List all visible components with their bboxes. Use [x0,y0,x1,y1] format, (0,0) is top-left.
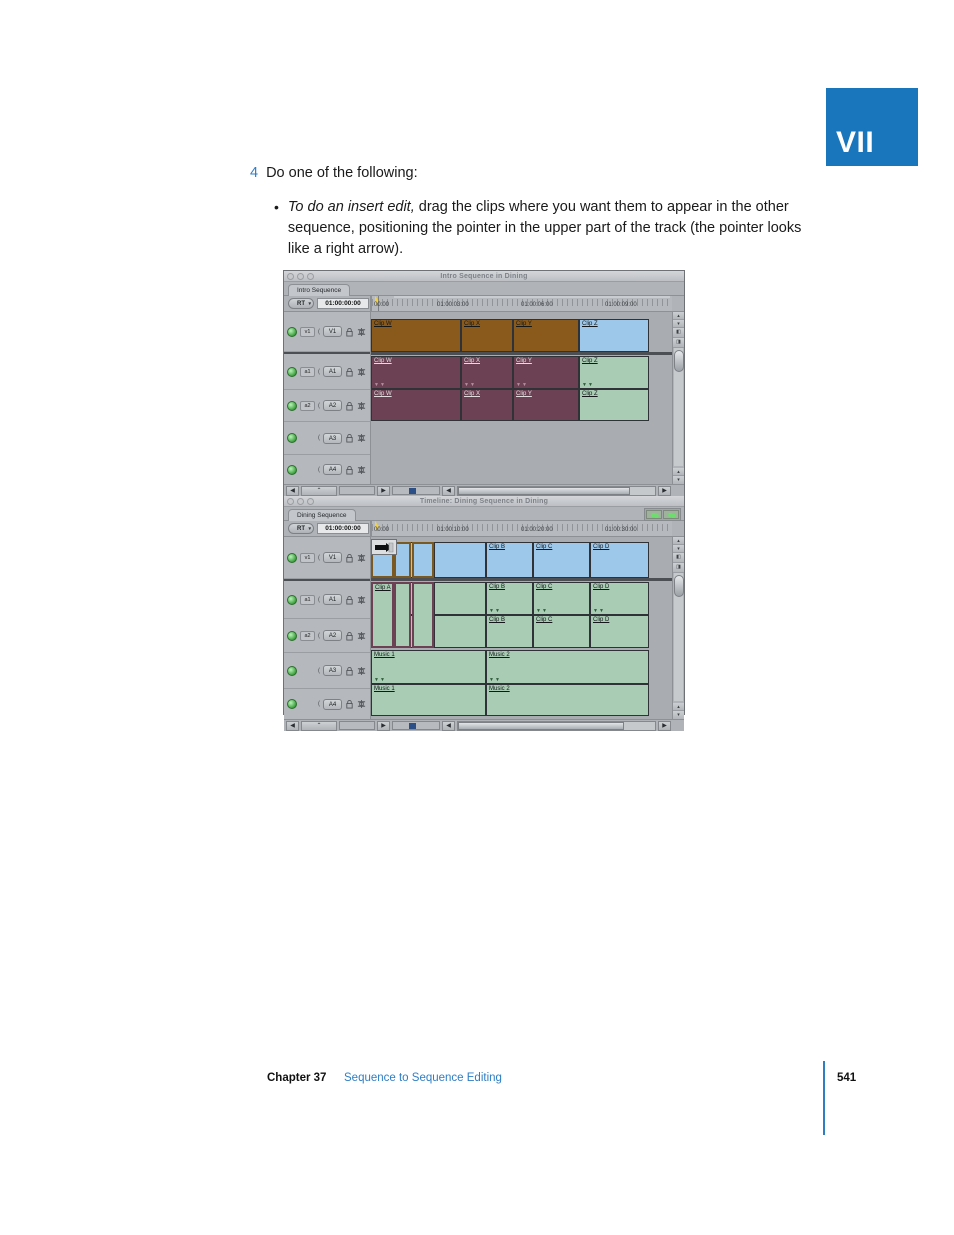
track-header-v1[interactable]: v1 ( V1 [284,537,370,579]
dining-window-titlebar[interactable]: Timeline: Dining Sequence in Dining [284,496,684,507]
source-v1-label[interactable]: v1 [300,553,315,563]
timeline-clip[interactable] [434,582,486,615]
intro-window-title: Intro Sequence in Dining [284,271,684,282]
scroll-down-arrow-icon-2[interactable]: ▾ [673,711,684,719]
scroll-up-arrow-icon-2[interactable]: ▴ [673,468,684,476]
patch-connector-icon: ( [318,403,320,409]
audio-visibility-icon[interactable] [287,433,297,443]
visibility-icon[interactable] [287,327,297,337]
dining-tabbar: Dining Sequence [284,507,684,521]
intro-horizontal-scrollbar[interactable] [457,486,656,496]
footer-divider [823,1061,825,1135]
auto-select-icon[interactable] [357,465,366,475]
intro-ruler-row: RT 01:00:00:00 00:00 01:00:03:00 01:00:0… [284,296,684,312]
step-number: 4 [250,163,258,183]
intro-timeline-lane[interactable]: Clip W Clip X Clip Y Clip Z Clip W▼▼ Cli… [371,312,672,484]
source-a2-label[interactable]: a2 [300,401,315,411]
dining-track-headers: v1 ( V1 a1 ( A1 a2 ( [284,537,371,719]
timeline-clip[interactable] [434,615,486,648]
timeline-clip[interactable]: Clip X▼▼ [461,356,513,389]
hscroll-right-arrow-icon[interactable]: ▶ [658,721,671,731]
ruler-corner-filler [672,521,684,536]
patch-connector-icon: ( [318,633,320,639]
source-a3-label[interactable] [300,433,315,443]
clip-label: Clip C [536,544,552,550]
timeline-clip[interactable]: Clip B▼▼ [486,582,533,615]
intro-vertical-scrollbar[interactable]: ▴ ▾ ◧ ◨ ▴ ▾ [672,312,684,484]
tab-dining-sequence[interactable]: Dining Sequence [288,509,356,521]
scroll-down-arrow-icon[interactable]: ▾ [673,545,684,553]
timeline-clip[interactable]: Clip B [486,542,533,578]
dest-A1-label[interactable]: A1 [323,366,342,377]
auto-select-icon[interactable] [357,631,366,641]
dest-V1-label[interactable]: V1 [323,326,342,337]
scroll-down-arrow-icon-2[interactable]: ▾ [673,476,684,484]
auto-select-icon[interactable] [357,327,366,337]
timeline-clip[interactable]: Music 1 [371,684,486,716]
timeline-clip[interactable] [434,542,486,578]
insert-edit-pointer-icon [371,539,397,555]
clip-label: Music 2 [489,686,510,692]
audio-visibility-icon[interactable] [287,631,297,641]
patch-connector-icon: ( [318,701,320,707]
clip-label: Clip W [374,321,392,327]
clip-label: Music 1 [374,686,395,692]
track-header-a4[interactable]: ( A4 [284,455,370,484]
clip-keyframes-icon[interactable]: ⌃ [301,721,337,731]
patch-connector-icon: ( [318,555,320,561]
zoom-slider[interactable] [392,486,440,495]
drag-ghost-clip[interactable]: Clip A [371,582,394,648]
clip-label: Clip D [593,584,609,590]
timeline-toggle-buttons[interactable] [644,508,681,521]
part-tab-label: VII [836,126,874,160]
patch-connector-icon: ( [318,435,320,441]
audio-visibility-icon[interactable] [287,465,297,475]
timeline-clip[interactable]: Clip W [371,319,461,352]
dining-vertical-scrollbar[interactable]: ▴ ▾ ◧ ◨ ▴ ▾ [672,537,684,719]
track-header-a2[interactable]: a2 ( A2 [284,619,370,653]
source-v1-label[interactable]: v1 [300,327,315,337]
audio-waveform-marks: ▼▼ [582,382,594,388]
source-a1-label[interactable]: a1 [300,367,315,377]
lock-icon[interactable] [345,699,354,709]
ruler-label-3: 01:00:09:00 [605,302,637,308]
hscroll-left-arrow-icon[interactable]: ◀ [442,721,455,731]
patch-connector-icon: ( [318,597,320,603]
clip-label: Clip B [489,544,505,550]
auto-select-icon[interactable] [357,367,366,377]
intro-tabbar: Intro Sequence [284,282,684,296]
track-header-v1[interactable]: v1 ( V1 [284,312,370,352]
audio-visibility-icon[interactable] [287,666,297,676]
ruler-label-3: 01:00:30:00 [605,527,637,533]
timeline-clip[interactable]: Clip Z [579,389,649,421]
dining-window-title: Timeline: Dining Sequence in Dining [284,496,684,507]
ruler-corner-filler [672,296,684,311]
timeline-options-icon[interactable]: ▶ [377,721,390,731]
footer-chapter: Chapter 37 [267,1072,326,1084]
track-divider [371,352,672,355]
track-height-toggle-icon[interactable]: ◧ [673,328,684,338]
auto-select-icon[interactable] [357,666,366,676]
track-layout-toggle-icon[interactable]: ◨ [673,563,684,573]
timeline-clip[interactable]: Clip D▼▼ [590,582,649,615]
track-header-a2[interactable]: a2 ( A2 [284,390,370,422]
ruler-label-1: 01:00:03:00 [437,302,469,308]
intro-bottom-toolbar: ◀ ⌃ ▶ ◀ ▶ [284,484,684,496]
track-height-control[interactable] [339,721,375,730]
clip-label: Clip X [464,358,480,364]
scroll-up-arrow-icon[interactable]: ▴ [673,312,684,320]
dest-A4-label[interactable]: A4 [323,699,342,710]
clip-label: Clip D [593,617,609,623]
hscroll-left-arrow-icon[interactable]: ◀ [442,486,455,496]
auto-select-icon[interactable] [357,699,366,709]
audio-visibility-icon[interactable] [287,595,297,605]
lock-icon[interactable] [345,433,354,443]
fcp-screenshot: Intro Sequence in Dining Intro Sequence … [283,270,685,715]
bullet-marker: • [274,197,279,218]
current-timecode-field[interactable]: 01:00:00:00 [317,523,369,534]
dest-A2-label[interactable]: A2 [323,400,342,411]
audio-visibility-icon[interactable] [287,401,297,411]
ruler-label-2: 01:00:20:00 [521,527,553,533]
dining-bottom-toolbar: ◀ ⌃ ▶ ◀ ▶ [284,719,684,731]
ruler-label-1: 01:00:10:00 [437,527,469,533]
clip-label: Music 2 [489,652,510,658]
clip-label: Clip B [489,584,505,590]
dest-A1-label[interactable]: A1 [323,594,342,605]
hscroll-thumb[interactable] [458,487,630,495]
clip-label: Clip Z [582,321,598,327]
lock-icon[interactable] [345,401,354,411]
track-header-a3[interactable]: ( A3 [284,653,370,689]
scroll-thumb[interactable] [674,575,684,597]
clip-overlays-icon[interactable]: ◀ [286,721,299,731]
timeline-clip[interactable]: Clip X [461,389,513,421]
auto-select-icon[interactable] [357,595,366,605]
source-a1-label[interactable]: a1 [300,595,315,605]
audio-waveform-marks: ▼▼ [374,382,386,388]
footer-page-number: 541 [837,1072,856,1084]
timeline-clip[interactable]: Clip W▼▼ [371,356,461,389]
body-copy: 4 Do one of the following: • To do an in… [250,163,820,260]
visibility-icon[interactable] [287,553,297,563]
audio-waveform-marks: ▼▼ [489,608,501,614]
tab-intro-sequence[interactable]: Intro Sequence [288,284,350,296]
linked-selection-icon[interactable] [646,510,662,519]
drag-ghost-clip[interactable] [412,582,434,648]
timeline-clip[interactable]: Clip Y [513,389,579,421]
part-tab-vii: VII [826,88,918,166]
timeline-clip[interactable]: Clip C [533,615,590,648]
track-header-a1[interactable]: a1 ( A1 [284,352,370,390]
clip-label: Clip Z [582,358,598,364]
hscroll-right-arrow-icon[interactable]: ▶ [658,486,671,496]
clip-label: Clip X [464,321,480,327]
clip-label: Clip W [374,358,392,364]
hscroll-thumb[interactable] [458,722,624,730]
scroll-up-arrow-icon-2[interactable]: ▴ [673,703,684,711]
intro-track-area: v1 ( V1 a1 ( A1 a2 ( [284,312,684,484]
source-a3-label[interactable] [300,666,315,676]
dest-V1-label[interactable]: V1 [323,552,342,563]
zoom-slider[interactable] [392,721,440,730]
bullet-emphasis: To do an insert edit, [288,199,415,215]
clip-label: Clip A [375,585,391,591]
track-header-a3[interactable]: ( A3 [284,422,370,455]
audio-visibility-icon[interactable] [287,367,297,377]
auto-select-icon[interactable] [357,553,366,563]
numbered-step: 4 Do one of the following: [250,163,820,183]
audio-waveform-marks: ▼▼ [593,608,605,614]
drag-ghost-clip[interactable] [412,542,434,578]
dining-track-area: v1 ( V1 a1 ( A1 a2 ( [284,537,684,719]
intro-timecode-ruler[interactable]: 00:00 01:00:03:00 01:00:06:00 01:00:09:0… [371,296,672,311]
clip-label: Music 1 [374,652,395,658]
track-divider [371,578,672,581]
dining-timeline-lane[interactable]: Clip A Clip B Clip C Clip D [371,537,672,719]
dining-horizontal-scrollbar[interactable] [457,721,656,731]
timeline-clip[interactable]: Clip D [590,542,649,578]
dest-A2-label[interactable]: A2 [323,630,342,641]
patch-connector-icon: ( [318,467,320,473]
audio-waveform-marks: ▼▼ [516,382,528,388]
window-resize-grip[interactable] [673,721,682,731]
audio-waveform-marks: ▼▼ [489,677,501,683]
lock-icon[interactable] [345,666,354,676]
scroll-up-arrow-icon[interactable]: ▴ [673,537,684,545]
source-a2-label[interactable]: a2 [300,631,315,641]
patch-connector-icon: ( [318,369,320,375]
source-a4-label[interactable] [300,699,315,709]
rt-popup-button[interactable]: RT [288,523,314,534]
timeline-clip[interactable]: Clip C▼▼ [533,582,590,615]
timeline-clip[interactable]: Music 1▼▼ [371,650,486,684]
footer-section-title: Sequence to Sequence Editing [344,1072,502,1084]
patch-connector-icon: ( [318,668,320,674]
clip-label: Clip W [374,391,392,397]
timeline-options-icon[interactable]: ▶ [377,486,390,496]
clip-label: Clip Y [516,321,532,327]
clip-label: Clip Y [516,358,532,364]
clip-label: Clip C [536,584,552,590]
ruler-label-2: 01:00:06:00 [521,302,553,308]
scroll-thumb[interactable] [674,350,684,372]
timeline-clip[interactable]: Clip Z [579,319,649,352]
intro-window-titlebar[interactable]: Intro Sequence in Dining [284,271,684,282]
clip-label: Clip B [489,617,505,623]
audio-waveform-marks: ▼▼ [464,382,476,388]
timeline-clip[interactable]: Music 2 [486,684,649,716]
track-layout-toggle-icon[interactable]: ◨ [673,338,684,348]
window-resize-grip[interactable] [673,486,682,496]
auto-select-icon[interactable] [357,433,366,443]
dining-timecode-ruler[interactable]: 00:00 01:00:10:00 01:00:20:00 01:00:30:0… [371,521,672,536]
timeline-clip[interactable]: Clip C [533,542,590,578]
dining-ruler-row: RT 01:00:00:00 00:00 01:00:10:00 01:00:2… [284,521,684,537]
timeline-clip[interactable]: Clip Y [513,319,579,352]
timeline-clip[interactable]: Music 2▼▼ [486,650,649,684]
dest-A4-label[interactable]: A4 [323,464,342,475]
audio-waveform-marks: ▼▼ [536,608,548,614]
step-text: Do one of the following: [266,163,418,183]
clip-label: Clip D [593,544,609,550]
timeline-clip[interactable]: Clip Z▼▼ [579,356,649,389]
timeline-clip[interactable]: Clip X [461,319,513,352]
render-status-bar [394,296,670,298]
lock-icon[interactable] [345,465,354,475]
drag-ghost-clip[interactable] [394,582,411,648]
lock-icon[interactable] [345,327,354,337]
source-a4-label[interactable] [300,465,315,475]
dest-A3-label[interactable]: A3 [323,665,342,676]
intro-track-headers: v1 ( V1 a1 ( A1 a2 ( [284,312,371,484]
ruler-label-0: 00:00 [374,527,389,533]
rt-popup-button[interactable]: RT [288,298,314,309]
clip-overlays-icon[interactable]: ◀ [286,486,299,496]
track-header-a4[interactable]: ( A4 [284,689,370,719]
track-height-control[interactable] [339,486,375,495]
intro-sequence-window: Intro Sequence in Dining Intro Sequence … [284,271,684,496]
track-height-toggle-icon[interactable]: ◧ [673,553,684,563]
lock-icon[interactable] [345,631,354,641]
bullet-item: • To do an insert edit, drag the clips w… [274,197,820,260]
clip-label: Clip C [536,617,552,623]
page-footer: Chapter 37 Sequence to Sequence Editing … [267,1070,877,1100]
track-header-a1[interactable]: a1 ( A1 [284,579,370,619]
clip-keyframes-icon[interactable]: ⌃ [301,486,337,496]
clip-label: Clip Z [582,391,598,397]
timeline-clip[interactable]: Clip B [486,615,533,648]
dest-A3-label[interactable]: A3 [323,433,342,444]
lock-icon[interactable] [345,553,354,563]
scroll-down-arrow-icon[interactable]: ▾ [673,320,684,328]
timeline-clip[interactable]: Clip W [371,389,461,421]
current-timecode-field[interactable]: 01:00:00:00 [317,298,369,309]
ruler-label-0: 00:00 [374,302,389,308]
audio-waveform-marks: ▼▼ [374,677,386,683]
timeline-clip[interactable]: Clip D [590,615,649,648]
bullet-text: To do an insert edit, drag the clips whe… [288,197,812,260]
intro-ruler-controls: RT 01:00:00:00 [284,296,371,311]
snapping-icon[interactable] [663,510,679,519]
timeline-clip[interactable]: Clip Y▼▼ [513,356,579,389]
clip-label: Clip Y [516,391,532,397]
lock-icon[interactable] [345,595,354,605]
lock-icon[interactable] [345,367,354,377]
auto-select-icon[interactable] [357,401,366,411]
patch-connector-icon: ( [318,329,320,335]
dining-ruler-controls: RT 01:00:00:00 [284,521,371,536]
dining-sequence-window: Timeline: Dining Sequence in Dining Dini… [284,496,684,731]
audio-visibility-icon[interactable] [287,699,297,709]
clip-label: Clip X [464,391,480,397]
